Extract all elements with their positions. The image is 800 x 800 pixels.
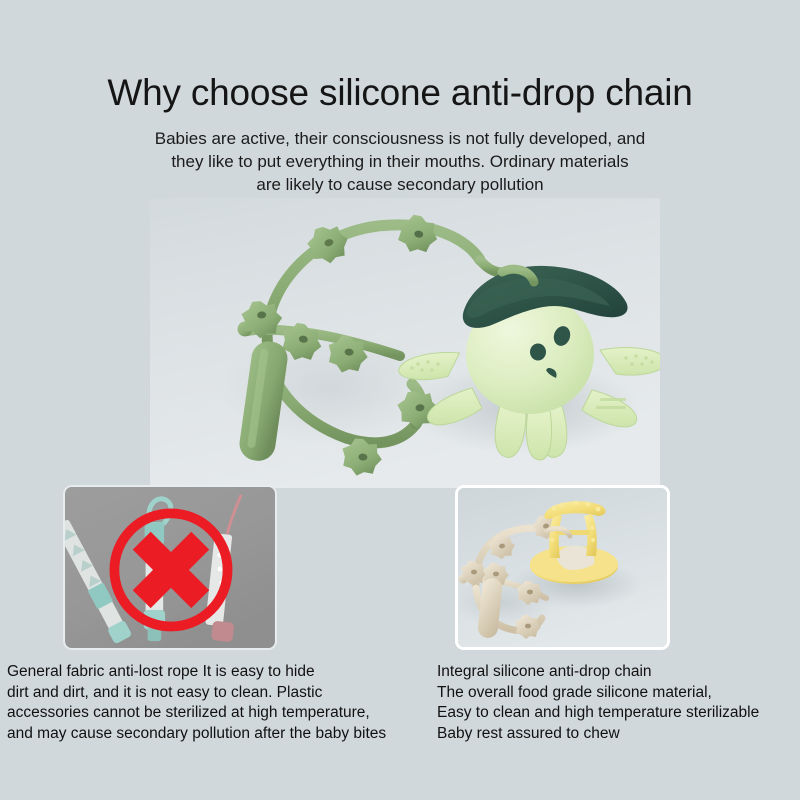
page-title: Why choose silicone anti-drop chain (0, 0, 800, 115)
header: Why choose silicone anti-drop chain Babi… (0, 0, 800, 196)
subtitle-line-1: Babies are active, their consciousness i… (90, 127, 710, 150)
subtitle-line-3: are likely to cause secondary pollution (90, 173, 710, 196)
hero-product-photo (150, 198, 660, 488)
caption-bad: General fabric anti-lost rope It is easy… (7, 662, 432, 744)
comparison-photo-bad (63, 485, 277, 650)
fabric-clips-illustration (65, 487, 275, 648)
hero-product-illustration (150, 198, 660, 488)
comparison-photo-good (455, 485, 670, 650)
subtitle: Babies are active, their consciousness i… (90, 127, 710, 196)
octopus-eye-left (530, 344, 546, 361)
caption-good: Integral silicone anti-drop chain The ov… (437, 662, 797, 744)
silicone-chain-beige-illustration (458, 488, 667, 647)
subtitle-line-2: they like to put everything in their mou… (90, 150, 710, 173)
promo-page: Why choose silicone anti-drop chain Babi… (0, 0, 800, 800)
